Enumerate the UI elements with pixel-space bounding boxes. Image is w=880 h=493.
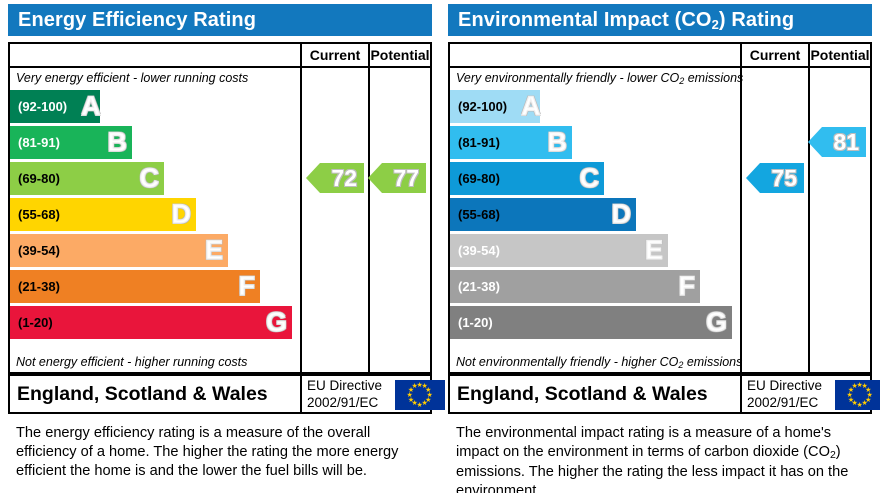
potential-rating-arrow: 77 (368, 163, 426, 193)
grid-header-row: CurrentPotential (450, 44, 870, 68)
band-row-C: (69-80)C (10, 162, 300, 195)
column-divider-2 (808, 68, 810, 372)
footer-directive-label: EU Directive2002/91/EC (740, 376, 832, 412)
band-list: (92-100)A(81-91)B(69-80)C(55-68)D(39-54)… (10, 90, 300, 342)
eu-flag-icon: ★★★★★★★★★★★★ (395, 380, 445, 410)
band-letter-F: F (679, 273, 696, 300)
band-bar-F: (21-38)F (450, 270, 700, 303)
band-range-A: (92-100) (18, 99, 67, 114)
chart-description-environmental-impact: The environmental impact rating is a mea… (456, 424, 856, 493)
grid-header-row: CurrentPotential (10, 44, 430, 68)
band-row-F: (21-38)F (450, 270, 740, 303)
footer-bar: England, Scotland & WalesEU Directive200… (448, 374, 872, 414)
band-range-G: (1-20) (18, 315, 53, 330)
current-rating-arrow-value: 72 (331, 165, 357, 192)
column-header-current: Current (300, 44, 368, 66)
chart-title-environmental-impact: Environmental Impact (CO2) Rating (448, 4, 872, 36)
footer-region-label: England, Scotland & Wales (17, 376, 268, 412)
grid-body: Very energy efficient - lower running co… (10, 68, 430, 372)
band-bar-E: (39-54)E (10, 234, 228, 267)
directive-line-2: 2002/91/EC (747, 394, 832, 411)
directive-line-2: 2002/91/EC (307, 394, 392, 411)
band-bar-G: (1-20)G (10, 306, 292, 339)
band-letter-A: A (521, 93, 541, 120)
band-bar-C: (69-80)C (450, 162, 604, 195)
band-row-E: (39-54)E (10, 234, 300, 267)
band-range-B: (81-91) (18, 135, 60, 150)
band-range-F: (21-38) (18, 279, 60, 294)
column-header-potential: Potential (368, 44, 430, 66)
column-header-potential: Potential (808, 44, 870, 66)
band-range-D: (55-68) (18, 207, 60, 222)
band-range-E: (39-54) (458, 243, 500, 258)
band-letter-C: C (580, 165, 600, 192)
potential-rating-arrow-value: 77 (393, 165, 419, 192)
chart-panel-environmental-impact: Environmental Impact (CO2) RatingCurrent… (440, 0, 880, 493)
directive-line-1: EU Directive (307, 377, 392, 394)
eu-star-11: ★ (412, 383, 418, 390)
band-row-B: (81-91)B (450, 126, 740, 159)
band-letter-D: D (612, 201, 632, 228)
eu-flag-icon: ★★★★★★★★★★★★ (835, 380, 880, 410)
chart-description-energy-efficiency: The energy efficiency rating is a measur… (16, 424, 416, 481)
band-row-G: (1-20)G (10, 306, 300, 339)
chart-title-energy-efficiency: Energy Efficiency Rating (8, 4, 432, 36)
band-letter-E: E (205, 237, 223, 264)
panel-inner-energy-efficiency: Energy Efficiency RatingCurrentPotential… (8, 4, 432, 414)
band-bar-C: (69-80)C (10, 162, 164, 195)
band-row-G: (1-20)G (450, 306, 740, 339)
band-list: (92-100)A(81-91)B(69-80)C(55-68)D(39-54)… (450, 90, 740, 342)
band-bar-B: (81-91)B (10, 126, 132, 159)
band-letter-B: B (108, 129, 128, 156)
potential-rating-arrow: 81 (808, 127, 866, 157)
column-header-current: Current (740, 44, 808, 66)
chart-panel-energy-efficiency: Energy Efficiency RatingCurrentPotential… (0, 0, 440, 493)
column-divider-1 (300, 68, 302, 372)
current-rating-arrow: 72 (306, 163, 364, 193)
band-bar-D: (55-68)D (10, 198, 196, 231)
band-bar-B: (81-91)B (450, 126, 572, 159)
band-row-B: (81-91)B (10, 126, 300, 159)
caption-bottom: Not energy efficient - higher running co… (10, 355, 300, 369)
band-range-E: (39-54) (18, 243, 60, 258)
band-letter-D: D (172, 201, 192, 228)
rating-grid-energy-efficiency: CurrentPotentialVery energy efficient - … (8, 42, 432, 374)
band-bar-A: (92-100)A (10, 90, 100, 123)
eu-star-11: ★ (852, 383, 858, 390)
grid-body: Very environmentally friendly - lower CO… (450, 68, 870, 372)
epc-certificate-graphs: Energy Efficiency RatingCurrentPotential… (0, 0, 880, 493)
band-bar-F: (21-38)F (10, 270, 260, 303)
caption-bottom: Not environmentally friendly - higher CO… (450, 355, 740, 369)
band-bar-G: (1-20)G (450, 306, 732, 339)
band-range-A: (92-100) (458, 99, 507, 114)
caption-top: Very energy efficient - lower running co… (10, 71, 300, 85)
current-rating-arrow-value: 75 (771, 165, 797, 192)
footer-bar: England, Scotland & WalesEU Directive200… (8, 374, 432, 414)
column-divider-1 (740, 68, 742, 372)
rating-grid-environmental-impact: CurrentPotentialVery environmentally fri… (448, 42, 872, 374)
band-row-D: (55-68)D (10, 198, 300, 231)
band-letter-C: C (140, 165, 160, 192)
co2-subscript: 2 (712, 17, 719, 32)
band-letter-A: A (81, 93, 101, 120)
band-letter-G: G (266, 309, 287, 336)
band-letter-B: B (548, 129, 568, 156)
band-row-F: (21-38)F (10, 270, 300, 303)
band-range-C: (69-80) (458, 171, 500, 186)
band-letter-G: G (706, 309, 727, 336)
band-letter-E: E (645, 237, 663, 264)
directive-line-1: EU Directive (747, 377, 832, 394)
current-rating-arrow: 75 (746, 163, 804, 193)
footer-directive-label: EU Directive2002/91/EC (300, 376, 392, 412)
band-row-A: (92-100)A (450, 90, 740, 123)
band-bar-D: (55-68)D (450, 198, 636, 231)
band-range-G: (1-20) (458, 315, 493, 330)
band-range-B: (81-91) (458, 135, 500, 150)
band-row-D: (55-68)D (450, 198, 740, 231)
band-bar-A: (92-100)A (450, 90, 540, 123)
band-letter-F: F (239, 273, 256, 300)
band-bar-E: (39-54)E (450, 234, 668, 267)
band-range-F: (21-38) (458, 279, 500, 294)
column-divider-2 (368, 68, 370, 372)
band-row-E: (39-54)E (450, 234, 740, 267)
band-row-A: (92-100)A (10, 90, 300, 123)
band-range-D: (55-68) (458, 207, 500, 222)
panel-inner-environmental-impact: Environmental Impact (CO2) RatingCurrent… (448, 4, 872, 414)
potential-rating-arrow-value: 81 (833, 129, 859, 156)
footer-region-label: England, Scotland & Wales (457, 376, 708, 412)
band-row-C: (69-80)C (450, 162, 740, 195)
caption-top: Very environmentally friendly - lower CO… (450, 71, 740, 85)
band-range-C: (69-80) (18, 171, 60, 186)
